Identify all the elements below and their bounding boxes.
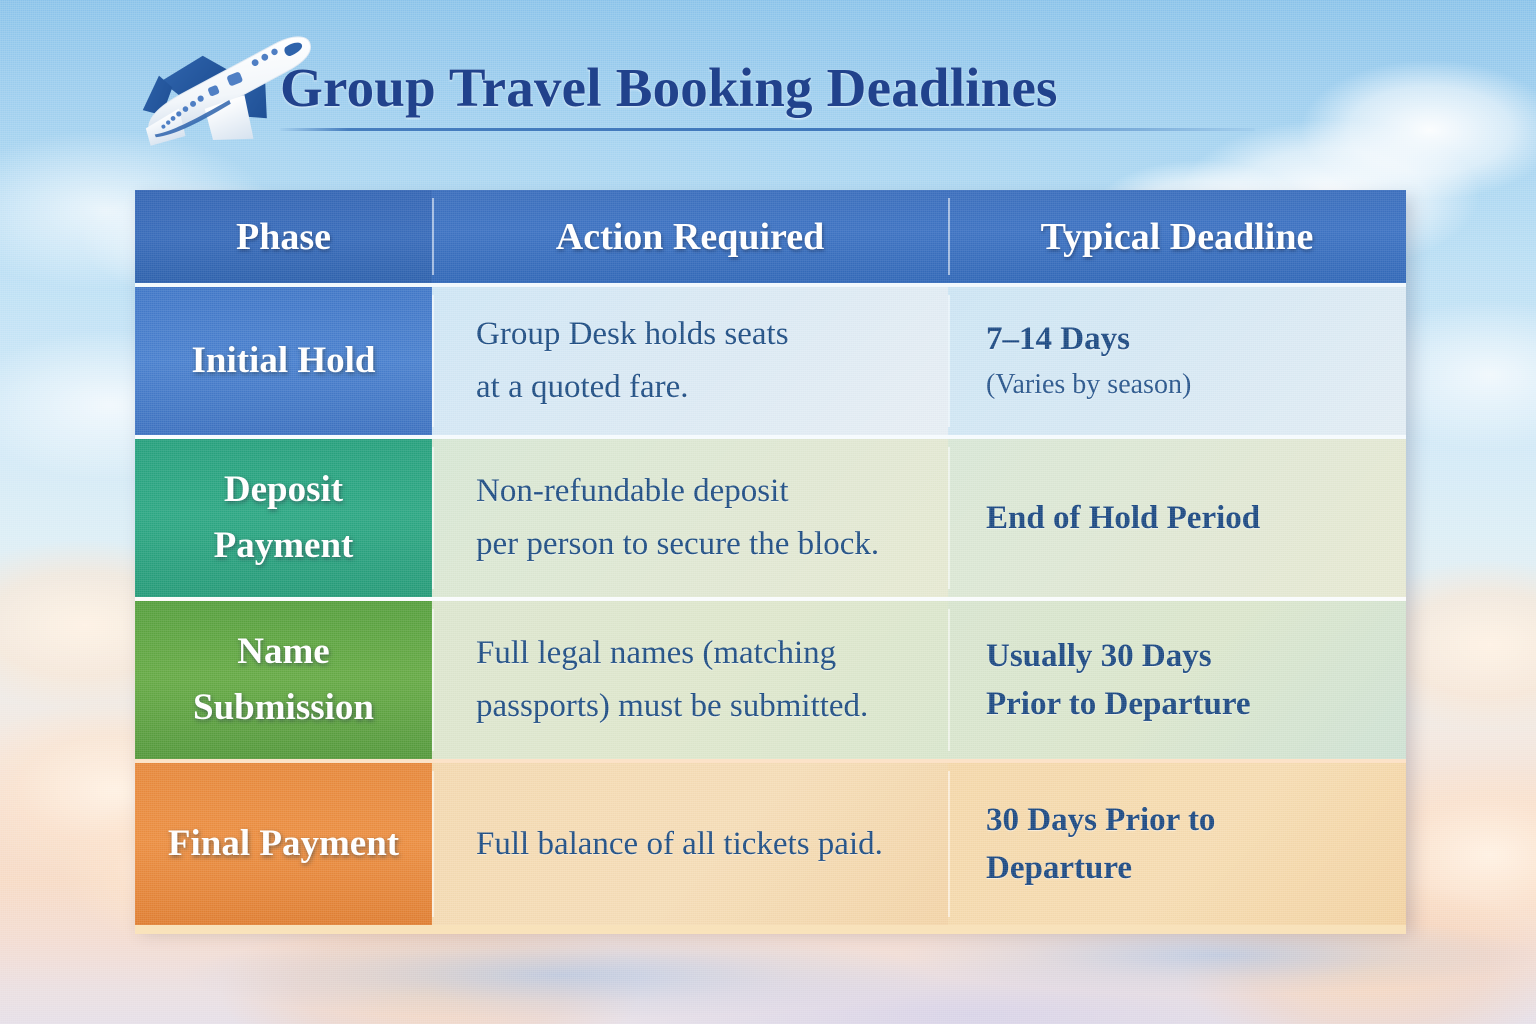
row-deadline-cell: 30 Days Prior to Departure bbox=[948, 763, 1406, 925]
row-deadline-cell: End of Hold Period bbox=[948, 439, 1406, 597]
action-line: at a quoted fare. bbox=[476, 361, 922, 414]
table-row: Initial Hold Group Desk holds seats at a… bbox=[135, 283, 1406, 435]
phase-label: Deposit bbox=[145, 462, 422, 518]
table-row: Final Payment Full balance of all ticket… bbox=[135, 759, 1406, 925]
header: Group Travel Booking Deadlines bbox=[0, 0, 1536, 175]
title-underline bbox=[280, 128, 1255, 131]
column-header-action: Action Required bbox=[432, 190, 948, 283]
row-action-cell: Group Desk holds seats at a quoted fare. bbox=[432, 287, 948, 435]
row-phase-cell: Name Submission bbox=[135, 601, 432, 759]
row-phase-cell: Initial Hold bbox=[135, 287, 432, 435]
phase-label: Submission bbox=[145, 680, 422, 736]
deadline-main: 30 Days Prior to bbox=[948, 796, 1406, 844]
deadline-main: End of Hold Period bbox=[948, 494, 1406, 542]
phase-label: Initial Hold bbox=[135, 333, 432, 389]
table-header-row: Phase Action Required Typical Deadline bbox=[135, 190, 1406, 283]
row-action-cell: Non-refundable deposit per person to sec… bbox=[432, 439, 948, 597]
cloud-decoration bbox=[620, 960, 1320, 1024]
row-phase-cell: Final Payment bbox=[135, 763, 432, 925]
deadlines-table: Phase Action Required Typical Deadline I… bbox=[135, 190, 1406, 925]
table-row: Deposit Payment Non-refundable deposit p… bbox=[135, 435, 1406, 597]
column-header-action-label: Action Required bbox=[432, 215, 948, 259]
row-phase-cell: Deposit Payment bbox=[135, 439, 432, 597]
page-title: Group Travel Booking Deadlines bbox=[280, 58, 1280, 118]
deadline-main: 7–14 Days bbox=[948, 315, 1406, 363]
row-deadline-cell: Usually 30 Days Prior to Departure bbox=[948, 601, 1406, 759]
deadline-sub: Prior to Departure bbox=[948, 680, 1406, 728]
action-line: Full legal names (matching bbox=[476, 627, 922, 680]
phase-label: Name bbox=[145, 624, 422, 680]
column-header-phase: Phase bbox=[135, 190, 432, 283]
row-action-cell: Full balance of all tickets paid. bbox=[432, 763, 948, 925]
column-header-phase-label: Phase bbox=[135, 215, 432, 259]
row-action-cell: Full legal names (matching passports) mu… bbox=[432, 601, 948, 759]
cloud-decoration bbox=[180, 930, 940, 1020]
row-deadline-cell: 7–14 Days (Varies by season) bbox=[948, 287, 1406, 435]
deadline-main: Usually 30 Days bbox=[948, 632, 1406, 680]
phase-label: Payment bbox=[145, 518, 422, 574]
action-line: Group Desk holds seats bbox=[476, 308, 922, 361]
infographic-canvas: Group Travel Booking Deadlines Phase Act… bbox=[0, 0, 1536, 1024]
deadline-sub: (Varies by season) bbox=[948, 363, 1406, 407]
action-line: per person to secure the block. bbox=[476, 518, 922, 571]
table-row: Name Submission Full legal names (matchi… bbox=[135, 597, 1406, 759]
deadline-sub: Departure bbox=[948, 844, 1406, 892]
column-header-deadline: Typical Deadline bbox=[948, 190, 1406, 283]
action-line: Non-refundable deposit bbox=[476, 465, 922, 518]
column-header-deadline-label: Typical Deadline bbox=[948, 215, 1406, 259]
action-line: passports) must be submitted. bbox=[476, 680, 922, 733]
phase-label: Final Payment bbox=[135, 816, 432, 872]
action-line: Full balance of all tickets paid. bbox=[476, 818, 922, 871]
